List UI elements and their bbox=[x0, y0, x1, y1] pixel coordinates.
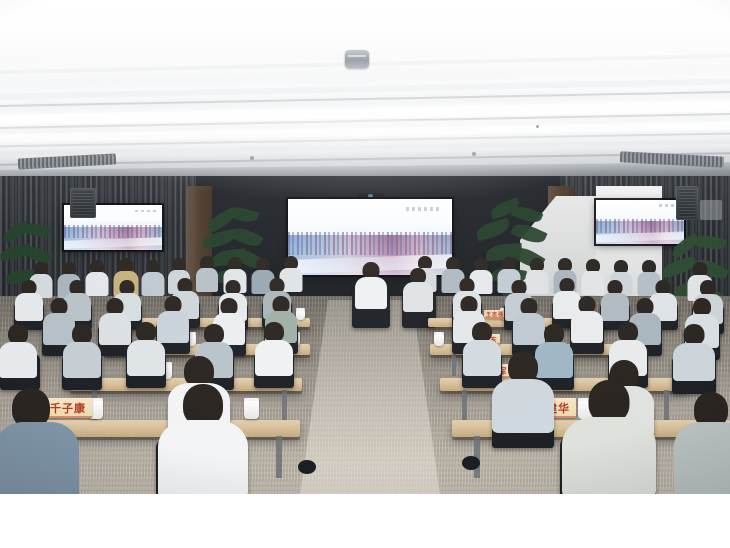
wall-speaker-right bbox=[676, 186, 698, 220]
front-attendee bbox=[356, 262, 386, 306]
screenshot-root: 王志强 bbox=[0, 0, 730, 548]
screen-logo bbox=[406, 207, 442, 212]
paper-cup[interactable] bbox=[244, 400, 259, 419]
front-attendee bbox=[404, 268, 432, 310]
paper-cup[interactable] bbox=[296, 310, 305, 320]
paper-cup[interactable] bbox=[434, 334, 444, 346]
wall-sign bbox=[700, 200, 722, 220]
name-placard: 王志强 bbox=[484, 310, 506, 319]
ceiling-sensor bbox=[345, 50, 369, 68]
wall-speaker-left bbox=[70, 188, 96, 218]
chair-wheel bbox=[462, 456, 480, 470]
screen-skyline bbox=[64, 225, 162, 239]
ceiling-light-strip bbox=[0, 78, 730, 101]
screen-skyline bbox=[288, 232, 452, 255]
downlight bbox=[472, 152, 476, 156]
chair-wheel bbox=[298, 460, 316, 474]
conference-room-photo: 王志强 bbox=[0, 0, 730, 494]
page-whitespace bbox=[0, 494, 730, 548]
downlight bbox=[536, 125, 539, 128]
downlight bbox=[250, 156, 254, 160]
screen-logo bbox=[135, 210, 157, 213]
screen-skyline bbox=[596, 219, 684, 232]
